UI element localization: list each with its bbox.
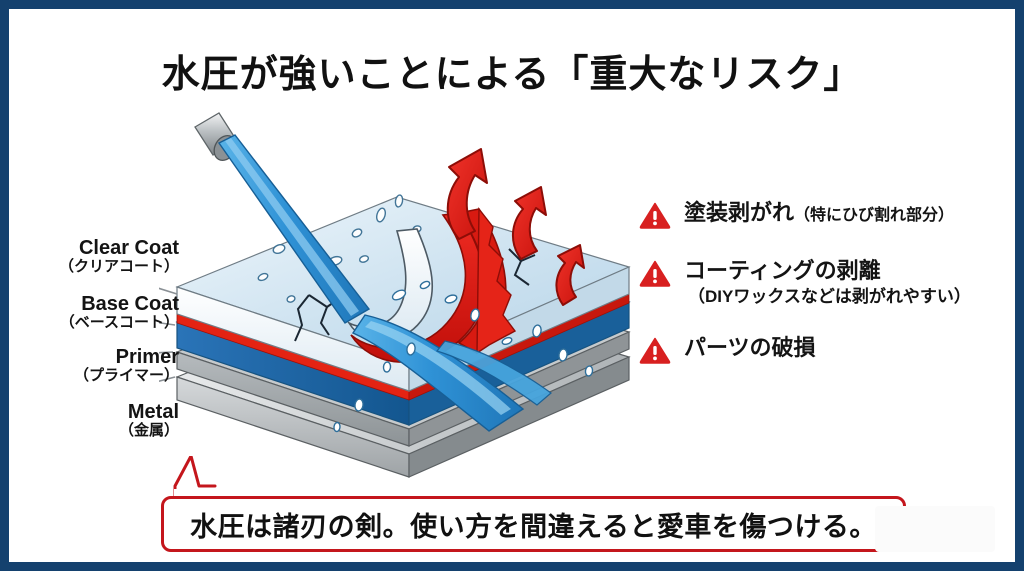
risk-main-label-2: コーティングの剥離 <box>684 257 1019 285</box>
warning-triangle-icon <box>639 336 671 364</box>
risk-item-coating-delamination: コーティングの剥離 （DIYワックスなどは剥がれやすい） <box>639 257 1019 308</box>
layer-label-primer-en: Primer <box>19 346 179 368</box>
layer-label-base-coat: Base Coat （ベースコート） <box>19 293 179 332</box>
warning-triangle-icon <box>639 201 671 229</box>
watermark <box>875 506 995 552</box>
layer-label-clear-coat: Clear Coat （クリアコート） <box>19 237 179 276</box>
layer-label-clear-coat-jp: （クリアコート） <box>19 259 179 276</box>
summary-callout: 水圧は諸刃の剣。使い方を間違えると愛車を傷つける。 <box>161 496 906 552</box>
paint-layer-illustration <box>159 109 639 479</box>
risk-item-paint-peeling: 塗装剥がれ（特にひび割れ部分） <box>639 199 1019 227</box>
layer-label-base-coat-en: Base Coat <box>19 293 179 315</box>
slide-canvas: 水圧が強いことによる「重大なリスク」 <box>0 0 1024 571</box>
layer-label-base-coat-jp: （ベースコート） <box>19 315 179 332</box>
risk-sub-label-2: （DIYワックスなどは剥がれやすい） <box>684 286 1019 308</box>
layer-label-primer-jp: （プライマー） <box>19 368 179 385</box>
layer-label-metal-en: Metal <box>19 401 179 423</box>
layer-label-primer: Primer （プライマー） <box>19 346 179 385</box>
risk-main-label-1: 塗装剥がれ <box>684 200 794 225</box>
risk-item-parts-damage: パーツの破損 <box>639 334 1019 362</box>
layer-label-metal-jp: （金属） <box>19 423 179 440</box>
layer-label-clear-coat-en: Clear Coat <box>19 237 179 259</box>
warning-triangle-icon <box>639 259 671 287</box>
risk-note-label-1: （特にひび割れ部分） <box>794 207 954 224</box>
callout-text: 水圧は諸刃の剣。使い方を間違えると愛車を傷つける。 <box>161 496 906 552</box>
risk-item-paint-peeling-text: 塗装剥がれ（特にひび割れ部分） <box>684 199 1019 227</box>
layer-label-metal: Metal （金属） <box>19 401 179 440</box>
risk-list: 塗装剥がれ（特にひび割れ部分） コーティングの剥離 （DIYワックスなどは剥がれ… <box>639 199 1019 389</box>
risk-main-label-3: パーツの破損 <box>684 334 1019 362</box>
illustration-svg <box>159 109 639 479</box>
page-title: 水圧が強いことによる「重大なリスク」 <box>9 43 1015 98</box>
